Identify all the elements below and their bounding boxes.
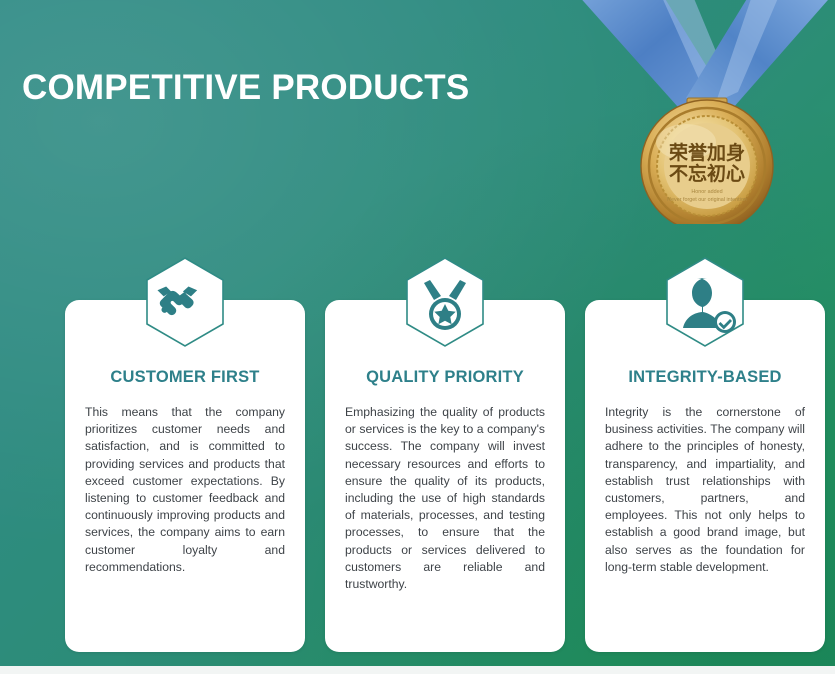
handshake-icon <box>139 256 231 348</box>
person-verified-icon <box>659 256 751 348</box>
card-title: INTEGRITY-BASED <box>585 368 825 387</box>
card-body: This means that the company prioritizes … <box>85 404 285 576</box>
bottom-strip <box>0 666 835 674</box>
cards-container: CUSTOMER FIRST This means that the compa… <box>0 0 835 674</box>
card-title: CUSTOMER FIRST <box>65 368 305 387</box>
card-body: Emphasizing the quality of products or s… <box>345 404 545 593</box>
card-customer-first[interactable]: CUSTOMER FIRST This means that the compa… <box>65 300 305 652</box>
slide-root: 荣誉加身 不忘初心 Honor added Never forget our o… <box>0 0 835 674</box>
card-body: Integrity is the cornerstone of business… <box>605 404 805 576</box>
card-title: QUALITY PRIORITY <box>325 368 565 387</box>
medal-star-icon <box>399 256 491 348</box>
card-integrity-based[interactable]: INTEGRITY-BASED Integrity is the corners… <box>585 300 825 652</box>
card-quality-priority[interactable]: QUALITY PRIORITY Emphasizing the quality… <box>325 300 565 652</box>
